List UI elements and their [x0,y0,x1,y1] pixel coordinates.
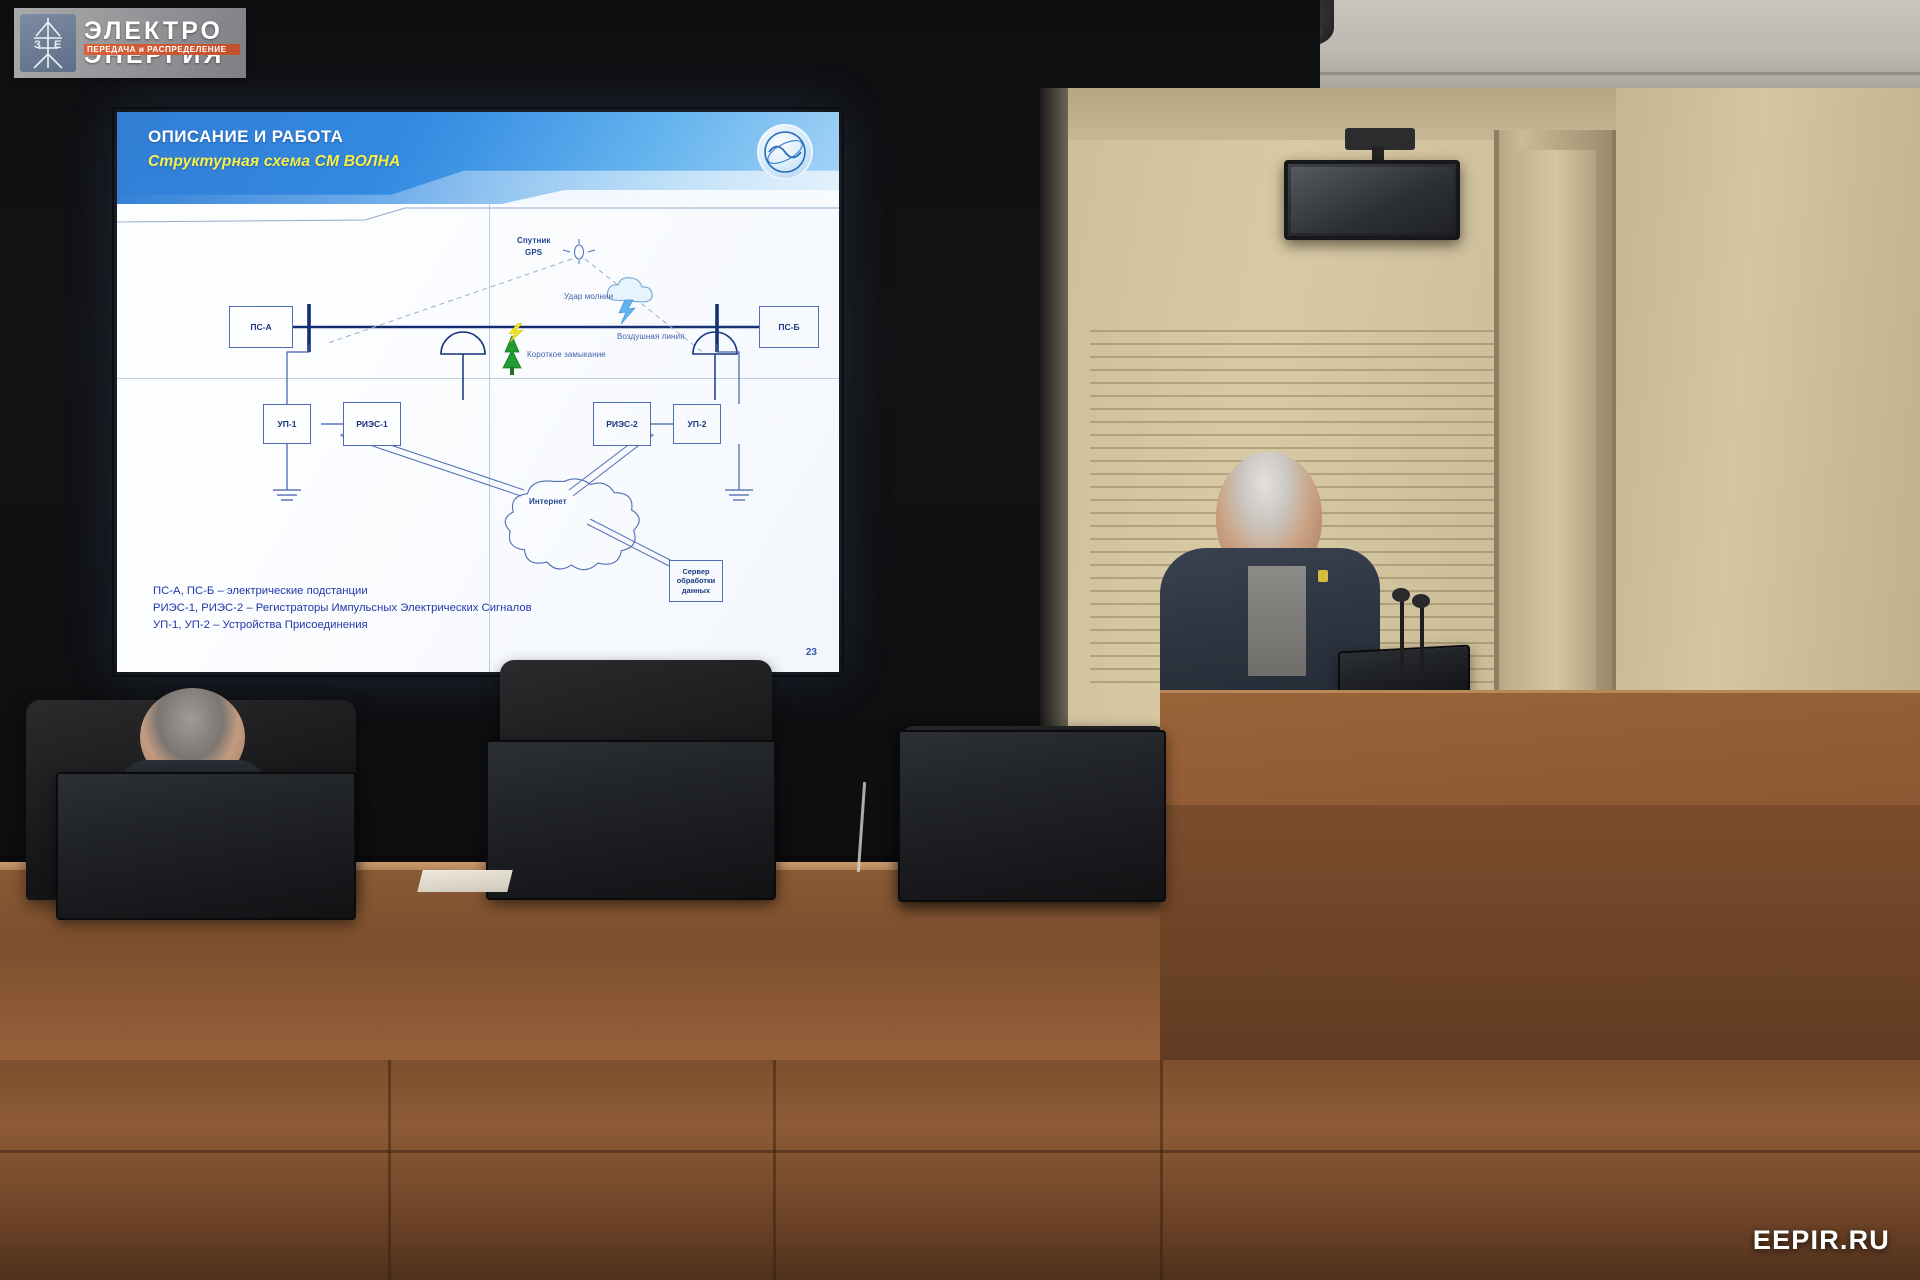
slide-legend: ПС-А, ПС-Б – электрические подстанции РИ… [153,583,532,634]
delegate-laptop-2[interactable] [486,740,776,900]
speaker-shirt [1248,566,1306,676]
desk-front-divider-3 [1160,1060,1163,1280]
screenshot-root: ОПИСАНИЕ И РАБОТА Структурная схема СМ В… [0,0,1920,1280]
desk-papers [417,870,512,892]
node-ries-2: РИЭС-2 [593,402,651,446]
logo-text-block: ЭЛЕКТРО ЭНЕРГИЯ ПЕРЕДАЧА и РАСПРЕДЕЛЕНИЕ [84,19,240,67]
wall-monitor-screen [1291,167,1453,233]
legend-line-2: РИЭС-1, РИЭС-2 – Регистраторы Импульсных… [153,600,532,617]
logo-line-2: ПЕРЕДАЧА и РАСПРЕДЕЛЕНИЕ [84,44,240,55]
node-substation-a: ПС-А [229,306,293,348]
site-watermark: EEPIR.RU [1753,1225,1890,1256]
label-satellite-line2: GPS [525,248,542,257]
projection-screen: ОПИСАНИЕ И РАБОТА Структурная схема СМ В… [117,112,839,672]
delegate-laptop-1[interactable] [56,772,356,920]
company-emblem-icon [757,124,813,180]
label-overhead-line: Воздушная линия [617,332,685,341]
channel-logo-overlay: З Е ЭЛЕКТРО ЭНЕРГИЯ ПЕРЕДАЧА и РАСПРЕДЕЛ… [14,8,246,78]
node-up-1: УП-1 [263,404,311,444]
svg-text:З: З [34,39,41,51]
slide-title: ОПИСАНИЕ И РАБОТА [148,127,343,147]
server-label-line2: обработки [677,576,715,585]
lightning-cloud-icon [607,278,652,324]
legend-line-1: ПС-А, ПС-Б – электрические подстанции [153,583,532,600]
logo-line-1: ЭЛЕКТРО [84,19,240,43]
emblem-glyph [763,130,807,174]
svg-text:Е: Е [54,39,61,51]
delegate-laptop-3[interactable] [898,730,1166,902]
podium-mic-head-1 [1392,588,1410,602]
desk-front-divider-2 [773,1060,776,1280]
server-label-line1: Сервер [682,567,709,576]
label-lightning-strike: Удар молнии [564,292,613,301]
label-internet: Интернет [529,497,567,506]
server-label-line3: данных [682,586,710,595]
node-ries-1: РИЭС-1 [343,402,401,446]
label-satellite-line1: Спутник [517,236,551,245]
presentation-slide: ОПИСАНИЕ И РАБОТА Структурная схема СМ В… [117,112,839,672]
legend-line-3: УП-1, УП-2 – Устройства Присоединения [153,617,532,634]
tree-short-circuit-icon [503,323,523,375]
pylon-glyph: З Е [20,14,76,72]
podium-mic-stem-1 [1400,596,1404,672]
slide-page-number: 23 [806,647,817,658]
podium-mic-head-2 [1412,594,1430,608]
node-substation-b: ПС-Б [759,306,819,348]
desk-front-panel [0,1060,1920,1280]
logo-pylon-icon: З Е [20,14,76,72]
wall-monitor [1284,160,1460,240]
slide-body: Спутник GPS Удар молнии Воздушная линия … [117,204,839,672]
desk-front-divider-1 [388,1060,391,1280]
podium-mic-stem-2 [1420,602,1424,672]
desk-front-seam [0,1150,1920,1153]
speaker-lapel-pin [1318,570,1328,582]
node-data-server: Сервер обработки данных [669,560,723,602]
slide-subtitle: Структурная схема СМ ВОЛНА [148,153,400,171]
node-up-2: УП-2 [673,404,721,444]
label-short-circuit: Короткое замыкание [527,350,606,359]
